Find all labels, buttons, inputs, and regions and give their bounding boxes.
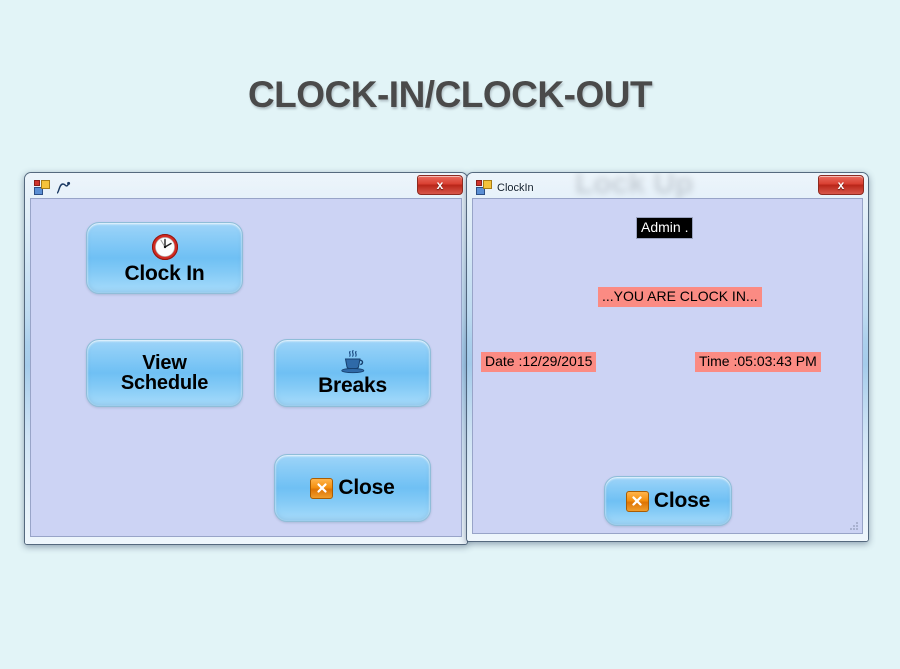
right-window-close-button[interactable]: x [818,175,864,195]
clock-in-button[interactable]: Clock In [86,222,243,294]
view-schedule-button[interactable]: View Schedule [86,339,243,407]
clock-in-button-label: Clock In [124,263,204,284]
curve-icon [55,180,71,196]
left-close-button[interactable]: Close [274,454,431,522]
left-window-close-button[interactable]: x [417,175,463,195]
app-icon [476,180,492,196]
app-icon [34,180,50,196]
time-label: Time :05:03:43 PM [695,352,821,372]
right-close-button[interactable]: Close [604,476,732,526]
view-schedule-label-line1: View [142,353,186,373]
close-icon: x [838,179,845,191]
breaks-button-label: Breaks [318,375,387,396]
right-window-title: ClockIn [497,182,534,194]
clockin-status-window: Lock Up ClockIn x Admin . ...YOU ARE CLO… [466,172,869,542]
right-close-button-label: Close [654,490,710,511]
close-icon: x [437,179,444,191]
clock-icon [150,232,180,262]
user-label: Admin . [636,217,693,239]
right-window-titlebar[interactable]: ClockIn x [472,178,863,198]
orange-x-icon [310,478,333,499]
resize-grip[interactable] [848,519,860,531]
date-label: Date :12/29/2015 [481,352,596,372]
left-close-button-label: Close [338,477,394,498]
view-schedule-label-line2: Schedule [121,373,208,393]
breaks-button[interactable]: Breaks [274,339,431,407]
status-label: ...YOU ARE CLOCK IN... [598,287,762,307]
clock-in-menu-window: x Clock In View Schedule [24,172,468,545]
left-window-titlebar[interactable]: x [30,178,462,198]
page-title: CLOCK-IN/CLOCK-OUT [0,74,900,116]
left-window-client-area: Clock In View Schedule Breaks [30,198,462,537]
right-window-client-area: Admin . ...YOU ARE CLOCK IN... Date :12/… [472,198,863,534]
coffee-cup-icon [338,350,368,374]
orange-x-icon [626,491,649,512]
